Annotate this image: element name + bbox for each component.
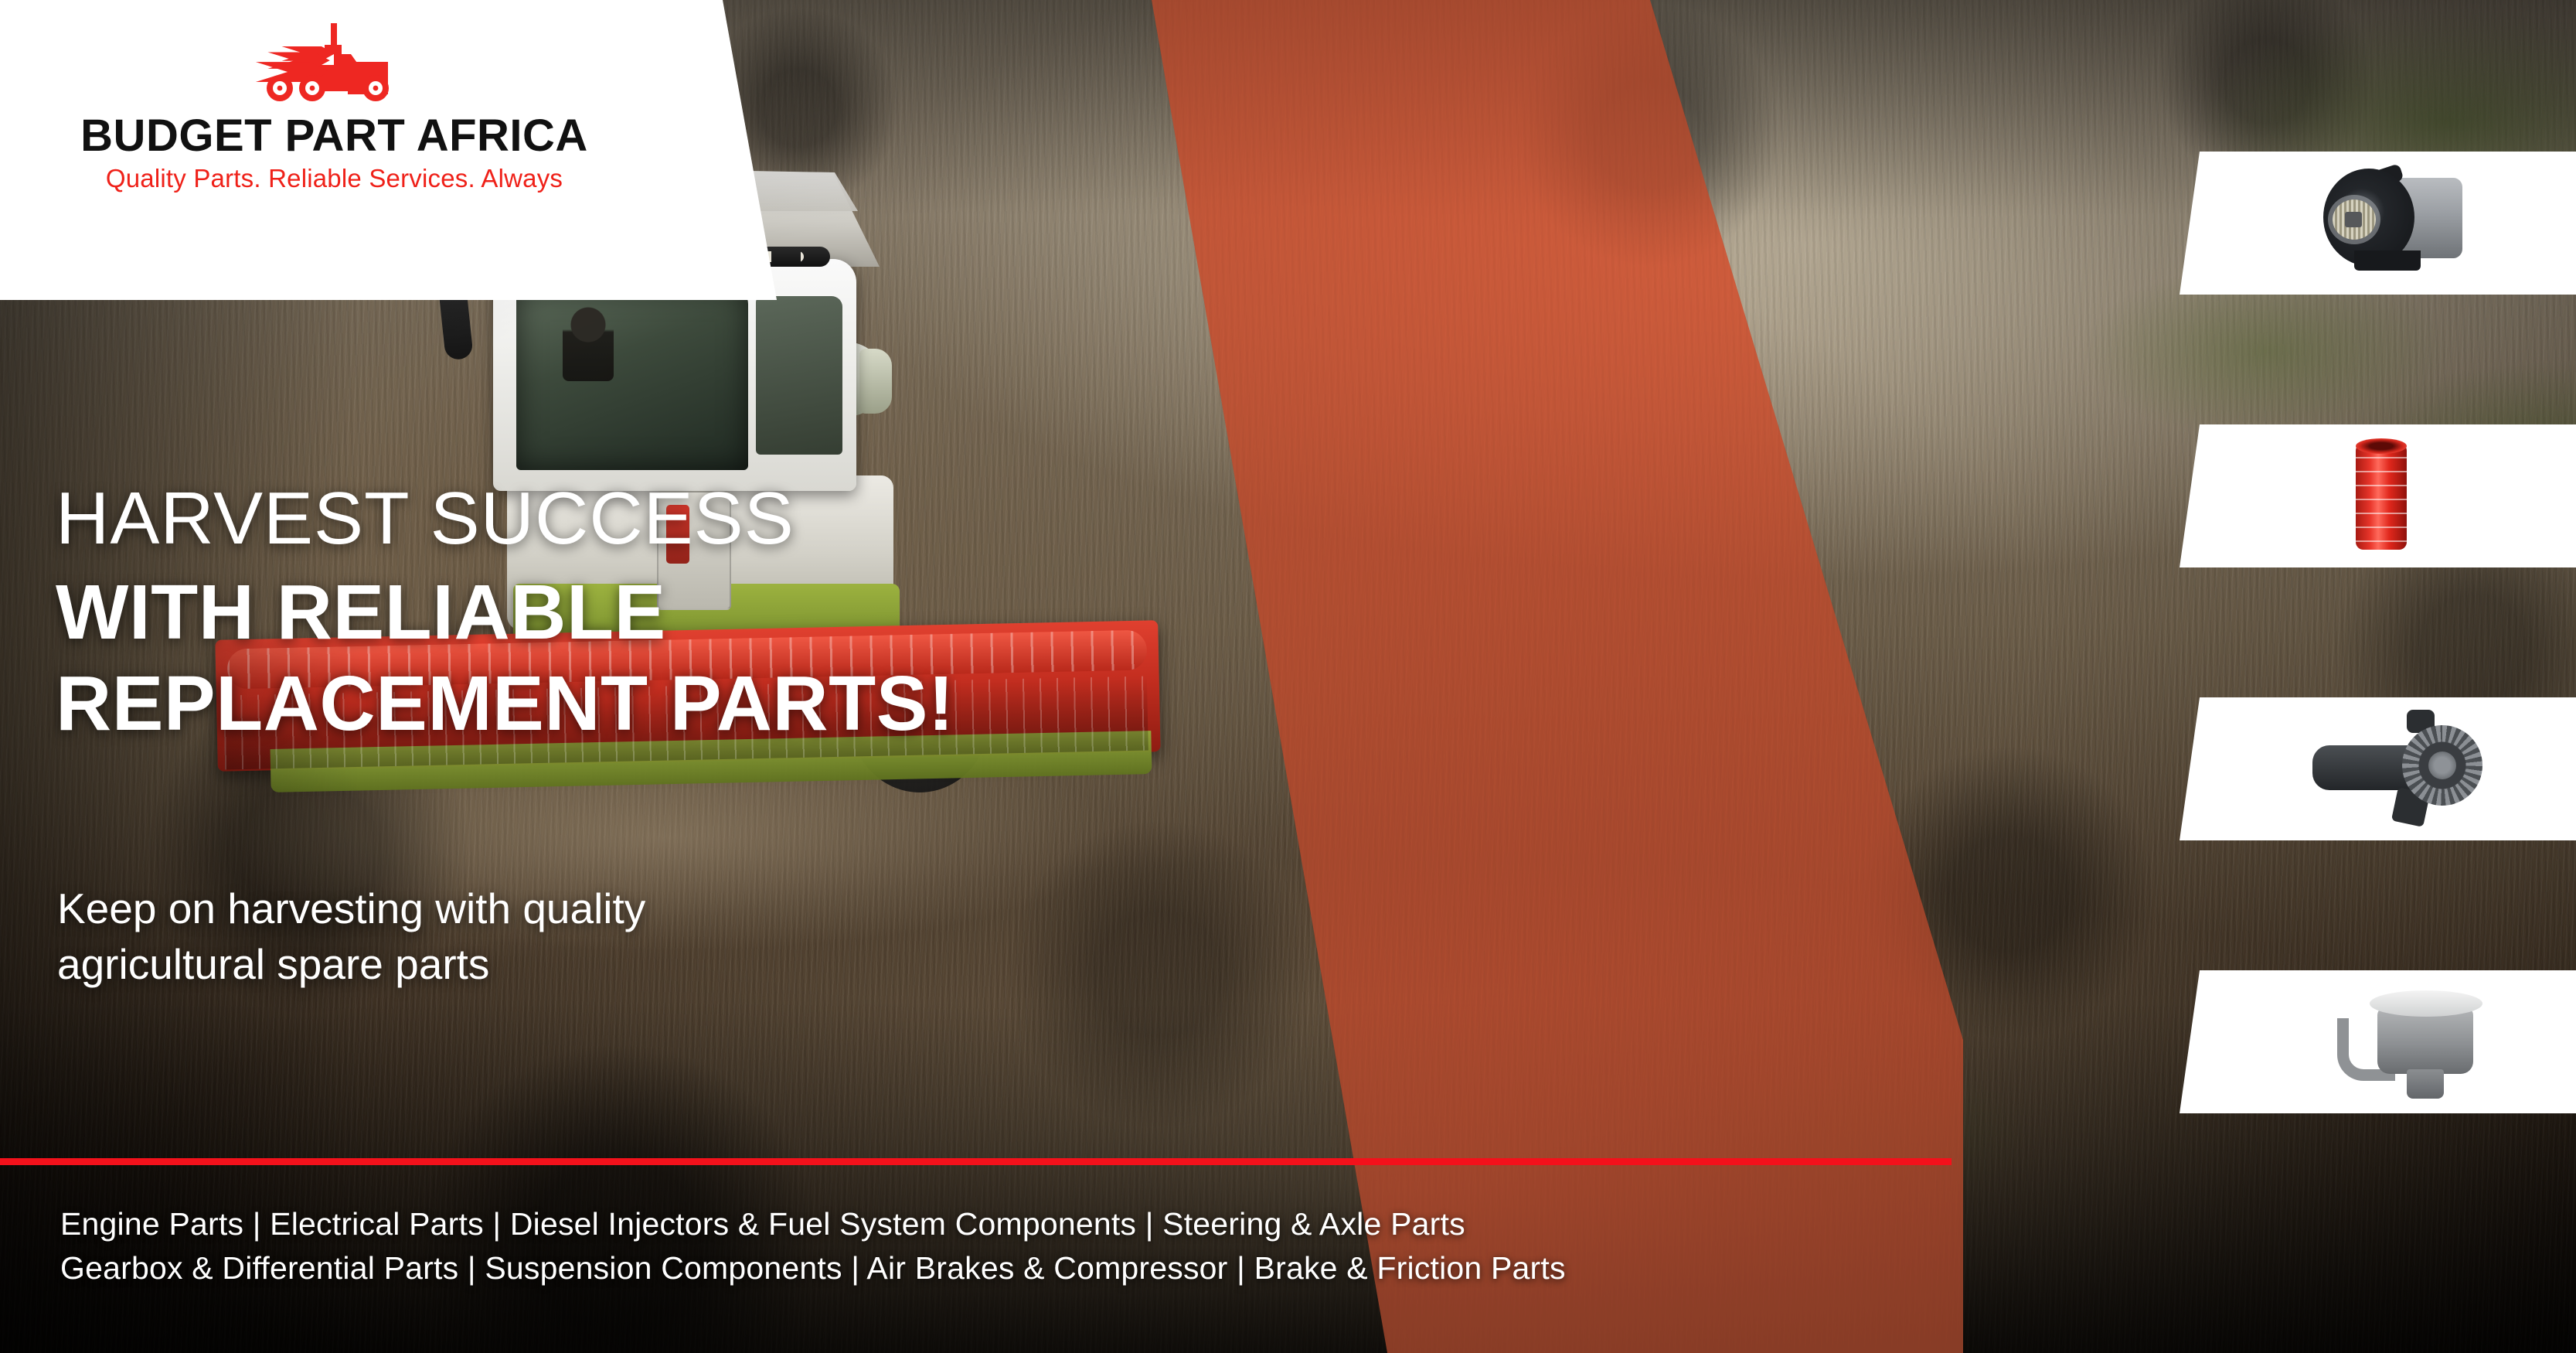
brand-name: BUDGET PART AFRICA [0, 110, 669, 162]
hose-opening [2356, 438, 2407, 454]
silicone-intercooler-hose-icon [2180, 424, 2576, 567]
headline-line-3: REPLACEMENT PARTS! [56, 660, 1215, 747]
product-card-alternator[interactable] [2180, 152, 2576, 295]
filter-housing-icon [2180, 970, 2576, 1113]
category-line-2: Gearbox & Differential Parts | Suspensio… [60, 1246, 2070, 1290]
pump-gear-hub [2428, 751, 2456, 779]
headline-line-2: WITH RELIABLE [56, 569, 1215, 656]
filter-housing-body [2377, 1007, 2473, 1074]
filter-top-cap [2370, 990, 2482, 1017]
logo-panel: BUDGET PART AFRICA Quality Parts. Reliab… [0, 0, 777, 302]
filter-outlet-neck [2407, 1069, 2444, 1099]
red-divider-rule [0, 1158, 1952, 1165]
product-card-hose[interactable] [2180, 424, 2576, 567]
product-card-filter-housing[interactable] [2180, 970, 2576, 1113]
hero-headline: HARVEST SUCCESS WITH RELIABLE REPLACEMEN… [56, 479, 1215, 747]
alternator-foot [2354, 250, 2421, 271]
hero-subheadline: Keep on harvesting with quality agricult… [57, 881, 985, 992]
brand-tagline: Quality Parts. Reliable Services. Always [0, 164, 669, 193]
subheadline-line-1: Keep on harvesting with quality [57, 881, 985, 937]
delivery-truck-speed-icon [232, 22, 433, 107]
category-line-1: Engine Parts | Electrical Parts | Diesel… [60, 1202, 2070, 1246]
oil-pump-gear-icon [2180, 697, 2576, 840]
promotional-banner: BUDGET PART AFRICA Quality Parts. Reliab… [0, 0, 2576, 1353]
alternator-icon [2180, 152, 2576, 295]
subheadline-line-2: agricultural spare parts [57, 937, 985, 993]
category-list: Engine Parts | Electrical Parts | Diesel… [60, 1202, 2070, 1290]
alternator-shaft-nut [2345, 212, 2362, 227]
product-card-oil-pump[interactable] [2180, 697, 2576, 840]
headline-line-1: HARVEST SUCCESS [56, 479, 1215, 558]
hose-body [2356, 443, 2407, 550]
